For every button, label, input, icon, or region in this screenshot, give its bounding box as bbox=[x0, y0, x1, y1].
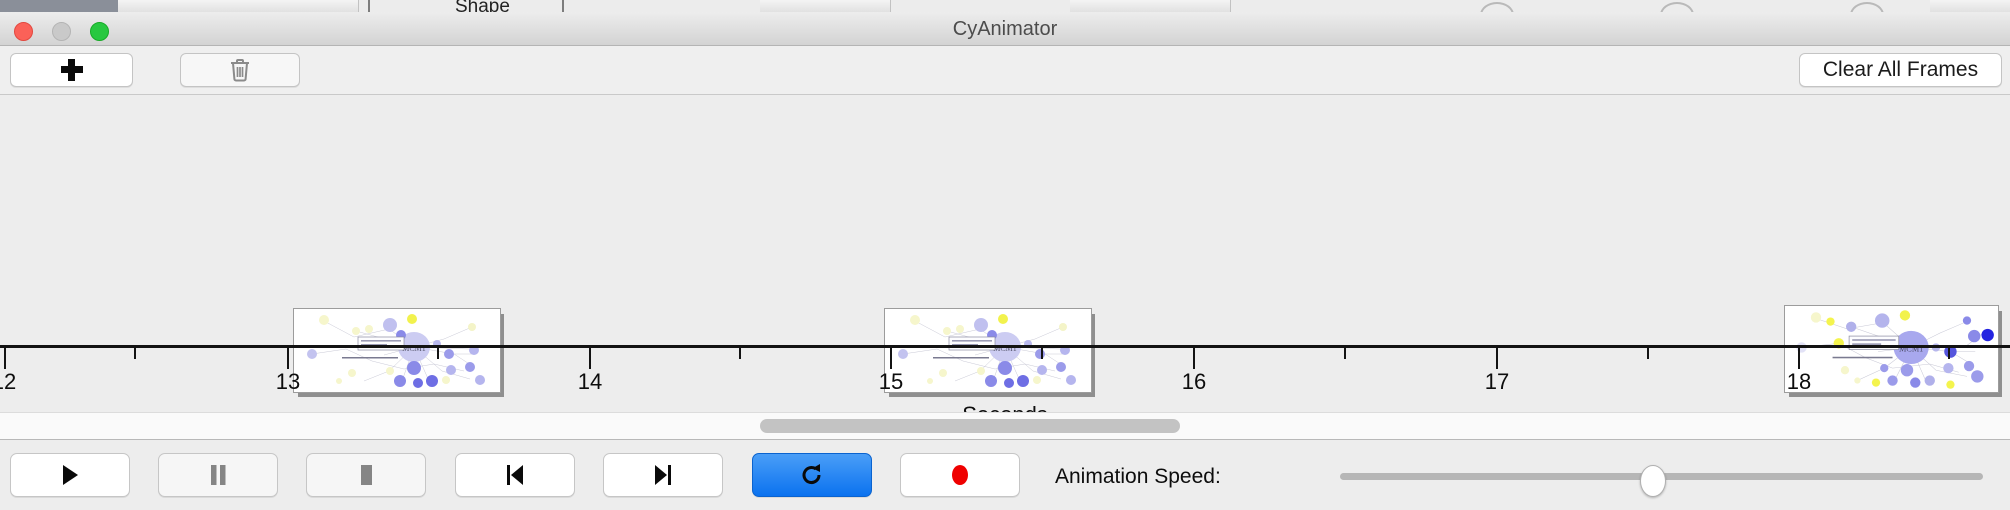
title-bar: CyAnimator bbox=[0, 12, 2010, 46]
ruler-tick-major bbox=[1193, 348, 1195, 369]
ruler-tick-major bbox=[287, 348, 289, 369]
ruler-label: 14 bbox=[578, 369, 602, 395]
ruler-label: 16 bbox=[1182, 369, 1206, 395]
add-frame-button[interactable] bbox=[10, 53, 133, 87]
stop-button[interactable] bbox=[306, 453, 426, 497]
ruler-tick-minor bbox=[1041, 348, 1043, 359]
ruler-tick-major bbox=[1496, 348, 1498, 369]
ruler-tick-major bbox=[890, 348, 892, 369]
ruler-label: 15 bbox=[879, 369, 903, 395]
scrollbar-thumb[interactable] bbox=[760, 419, 1180, 433]
play-button[interactable] bbox=[10, 453, 130, 497]
record-button[interactable] bbox=[900, 453, 1020, 497]
timeline-panel[interactable]: MCM1 bbox=[0, 95, 2010, 440]
skip-back-icon bbox=[504, 464, 526, 486]
ruler-label: 18 bbox=[1787, 369, 1811, 395]
timeline-scrollbar[interactable] bbox=[0, 412, 2010, 440]
animation-speed-label: Animation Speed: bbox=[1055, 465, 1221, 489]
play-icon bbox=[60, 464, 80, 486]
ruler-baseline bbox=[0, 345, 2010, 348]
ruler-label: 13 bbox=[276, 369, 300, 395]
ruler-tick-major bbox=[589, 348, 591, 369]
clear-all-frames-button[interactable]: Clear All Frames bbox=[1799, 53, 2002, 87]
ruler-tick-minor bbox=[134, 348, 136, 359]
cyanimator-window: CyAnimator Clear All Frames bbox=[0, 12, 2010, 510]
window-title: CyAnimator bbox=[0, 18, 2010, 41]
ruler-tick-major bbox=[1798, 348, 1800, 369]
previous-button[interactable] bbox=[455, 453, 575, 497]
ruler-tick-minor bbox=[1647, 348, 1649, 359]
trash-icon bbox=[228, 57, 252, 83]
ruler-label: 17 bbox=[1485, 369, 1509, 395]
delete-frame-button[interactable] bbox=[180, 53, 300, 87]
transport-bar: Animation Speed: bbox=[0, 440, 2010, 510]
loop-icon bbox=[800, 463, 824, 487]
ruler-tick-minor bbox=[739, 348, 741, 359]
frame-toolbar: Clear All Frames bbox=[0, 46, 2010, 95]
ruler-tick-major bbox=[4, 348, 6, 369]
skip-forward-icon bbox=[652, 464, 674, 486]
record-icon bbox=[949, 463, 971, 487]
loop-button[interactable] bbox=[752, 453, 872, 497]
stop-icon bbox=[356, 464, 376, 486]
ruler-label: 12 bbox=[0, 369, 16, 395]
pause-icon bbox=[208, 464, 228, 486]
next-button[interactable] bbox=[603, 453, 723, 497]
frames-track[interactable]: MCM1 bbox=[0, 95, 2010, 385]
ruler-ticks: 12 13 14 15 16 17 18 bbox=[0, 345, 2010, 400]
ruler-tick-minor bbox=[437, 348, 439, 359]
clear-all-frames-label: Clear All Frames bbox=[1823, 58, 1978, 82]
pause-button[interactable] bbox=[158, 453, 278, 497]
plus-icon bbox=[61, 59, 83, 81]
ruler-tick-minor bbox=[1344, 348, 1346, 359]
ruler-tick-minor bbox=[1948, 348, 1950, 359]
animation-speed-thumb[interactable] bbox=[1640, 465, 1666, 497]
